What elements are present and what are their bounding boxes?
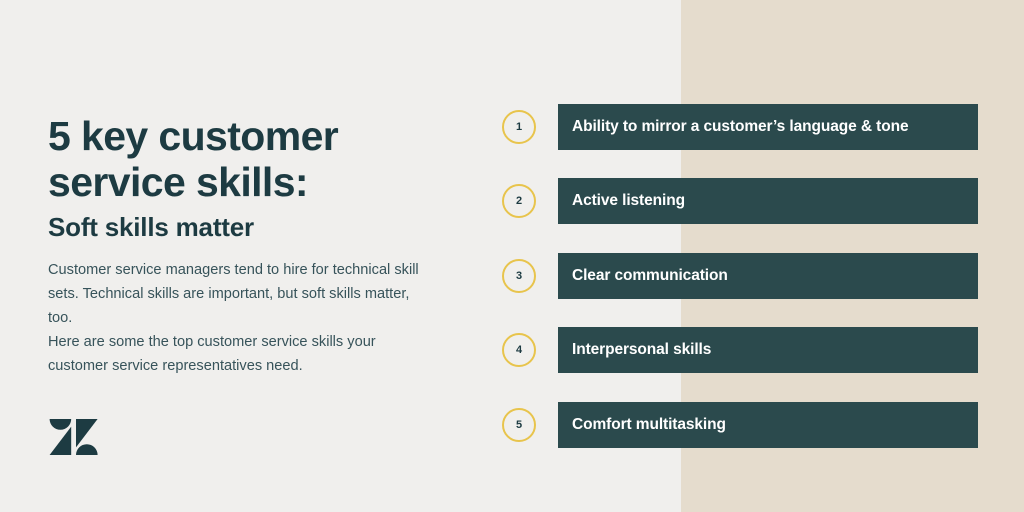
skill-number-badge: 3 [502, 259, 536, 293]
skill-bar[interactable]: Interpersonal skills [558, 327, 978, 373]
skill-number-badge: 4 [502, 333, 536, 367]
skill-row[interactable]: 4 Interpersonal skills [502, 327, 978, 373]
skill-row[interactable]: 1 Ability to mirror a customer’s languag… [502, 104, 978, 150]
skill-number-badge: 1 [502, 110, 536, 144]
skill-bar[interactable]: Comfort multitasking [558, 402, 978, 448]
skill-bar[interactable]: Active listening [558, 178, 978, 224]
skill-row[interactable]: 2 Active listening [502, 178, 978, 224]
skill-bar[interactable]: Clear communication [558, 253, 978, 299]
skill-number-badge: 2 [502, 184, 536, 218]
skill-label: Interpersonal skills [572, 341, 711, 359]
skill-label: Ability to mirror a customer’s language … [572, 118, 908, 136]
skill-bar[interactable]: Ability to mirror a customer’s language … [558, 104, 978, 150]
infographic-canvas: 5 key customer service skills: Soft skil… [0, 0, 1024, 512]
skill-row[interactable]: 3 Clear communication [502, 253, 978, 299]
skill-number-badge: 5 [502, 408, 536, 442]
skill-row[interactable]: 5 Comfort multitasking [502, 402, 978, 448]
skill-label: Comfort multitasking [572, 416, 726, 434]
skill-label: Clear communication [572, 267, 728, 285]
skill-label: Active listening [572, 192, 685, 210]
skills-list: 1 Ability to mirror a customer’s languag… [0, 0, 1024, 512]
